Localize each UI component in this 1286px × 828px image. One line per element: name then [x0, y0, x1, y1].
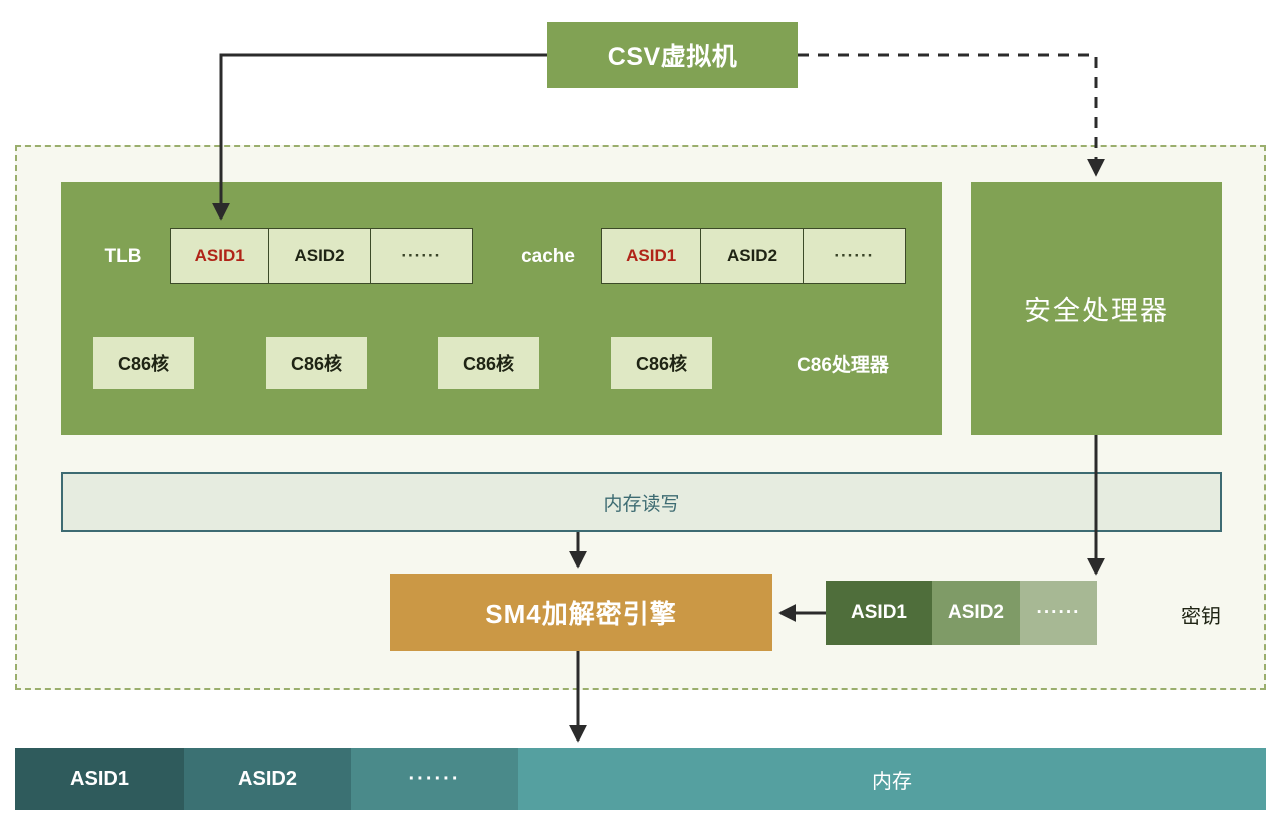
- cache-label-text: cache: [521, 246, 575, 268]
- tlb-slot-row: ASID1 ASID2 ······: [170, 228, 473, 284]
- tlb-label-text: TLB: [105, 246, 142, 268]
- tlb-label: TLB: [95, 244, 151, 270]
- memory-segment-more[interactable]: ······: [351, 748, 518, 810]
- cache-slot-more[interactable]: ······: [804, 229, 905, 283]
- security-processor-block[interactable]: 安全处理器: [971, 182, 1222, 435]
- physical-memory-bar: ASID1 ASID2 ······ 内存: [15, 748, 1266, 810]
- tlb-slot-more[interactable]: ······: [371, 229, 472, 283]
- sm4-crypto-engine[interactable]: SM4加解密引擎: [390, 574, 772, 651]
- key-table-label: 密钥: [1170, 600, 1232, 628]
- cache-slot-asid1[interactable]: ASID1: [602, 229, 701, 283]
- tlb-slot-asid2[interactable]: ASID2: [269, 229, 370, 283]
- key-slot-more[interactable]: ······: [1020, 581, 1097, 645]
- memory-segment-asid1[interactable]: ASID1: [15, 748, 184, 810]
- key-slot-asid1[interactable]: ASID1: [826, 581, 932, 645]
- csv-vm-block[interactable]: CSV虚拟机: [547, 22, 798, 88]
- c86-processor-label: C86处理器: [777, 350, 909, 376]
- key-slot-asid2[interactable]: ASID2: [932, 581, 1020, 645]
- cache-slot-row: ASID1 ASID2 ······: [601, 228, 906, 284]
- c86-core-4[interactable]: C86核: [611, 337, 712, 389]
- cache-label: cache: [508, 243, 588, 271]
- c86-core-1[interactable]: C86核: [93, 337, 194, 389]
- memory-segment-asid2[interactable]: ASID2: [184, 748, 351, 810]
- tlb-slot-asid1[interactable]: ASID1: [171, 229, 269, 283]
- diagram-canvas: TLB ASID1 ASID2 ······ cache ASID1 ASID2…: [0, 0, 1286, 828]
- c86-core-3[interactable]: C86核: [438, 337, 539, 389]
- memory-access-bar: 内存读写: [61, 472, 1222, 532]
- c86-core-2[interactable]: C86核: [266, 337, 367, 389]
- c86-processor-block: [61, 182, 942, 435]
- memory-segment-label: 内存: [518, 748, 1266, 810]
- key-table: ASID1 ASID2 ······: [826, 581, 1097, 645]
- cache-slot-asid2[interactable]: ASID2: [701, 229, 803, 283]
